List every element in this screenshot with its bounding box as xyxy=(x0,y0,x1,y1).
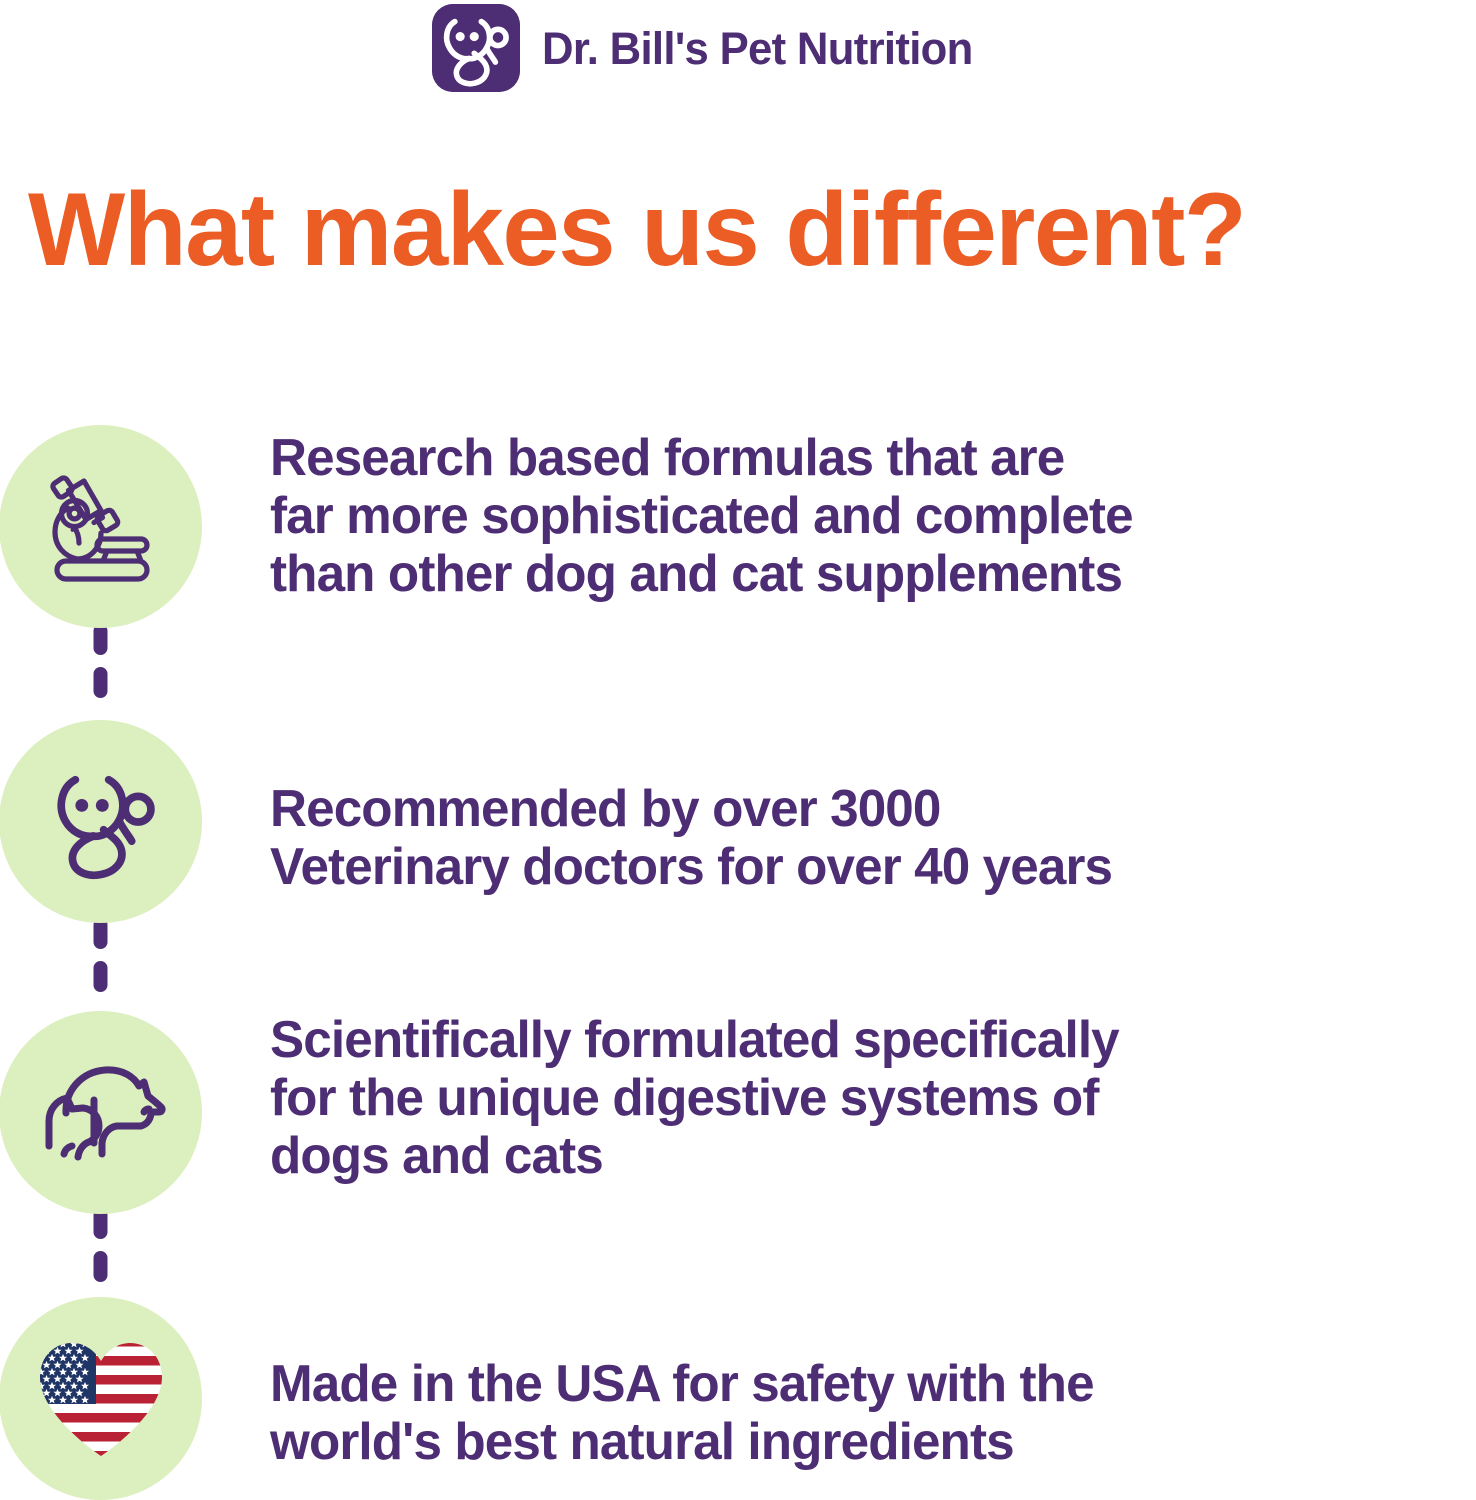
stethoscope-face-icon xyxy=(37,758,165,886)
feature-text-made-in-usa: Made in the USA for safety with the worl… xyxy=(270,1297,1094,1471)
icon-badge-made-in-usa xyxy=(0,1297,202,1500)
feature-text-recommended: Recommended by over 3000 Veterinary doct… xyxy=(270,720,1112,896)
brand-header: Dr. Bill's Pet Nutrition xyxy=(432,4,986,92)
feature-item-formulated: Scientifically formulated specifically f… xyxy=(0,1011,1476,1214)
icon-badge-formulated xyxy=(0,1011,202,1214)
feature-list: Research based formulas that are far mor… xyxy=(0,425,1476,1500)
page-title: What makes us different? xyxy=(28,178,1444,282)
logo-stethoscope-face-icon xyxy=(432,4,520,92)
icon-badge-research xyxy=(0,425,202,628)
icon-badge-recommended xyxy=(0,720,202,923)
microscope-icon xyxy=(41,467,161,587)
usa-flag-heart-icon xyxy=(34,1337,168,1461)
feature-item-recommended: Recommended by over 3000 Veterinary doct… xyxy=(0,720,1476,923)
feature-item-made-in-usa: Made in the USA for safety with the worl… xyxy=(0,1297,1476,1500)
feature-text-formulated: Scientifically formulated specifically f… xyxy=(270,1011,1119,1186)
feature-text-research: Research based formulas that are far mor… xyxy=(270,425,1133,604)
brand-name: Dr. Bill's Pet Nutrition xyxy=(542,26,973,71)
dog-and-cat-icon xyxy=(31,1051,171,1175)
feature-item-research: Research based formulas that are far mor… xyxy=(0,425,1476,628)
